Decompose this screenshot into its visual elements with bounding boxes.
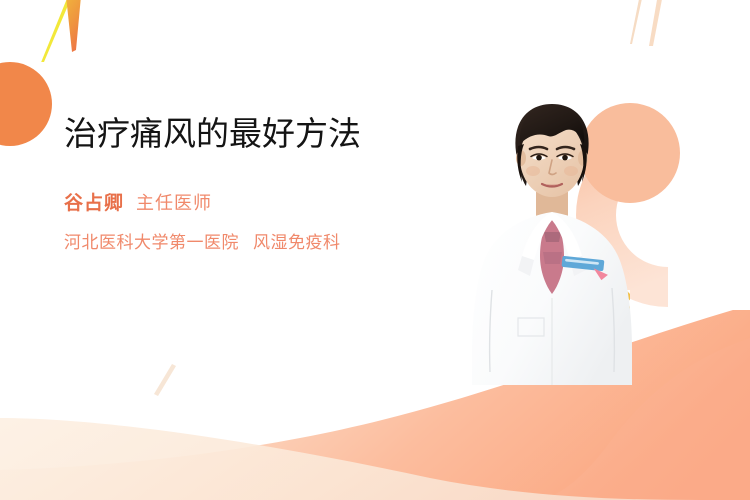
yellow-slash-icon xyxy=(38,0,74,64)
health-video-thumbnail-card: 治疗痛风的最好方法 谷占卿主任医师 河北医科大学第一医院风湿免疫科 xyxy=(0,0,750,500)
department-name: 风湿免疫科 xyxy=(253,233,341,252)
doctor-portrait xyxy=(462,100,642,385)
doctor-affiliation: 河北医科大学第一医院风湿免疫科 xyxy=(64,228,414,253)
orange-circle-decoration xyxy=(0,62,52,146)
doctor-rank: 主任医师 xyxy=(136,193,212,213)
doctor-byline: 谷占卿主任医师 xyxy=(64,188,414,215)
doctor-name: 谷占卿 xyxy=(64,193,124,214)
peach-slash-pair-icon xyxy=(630,0,676,52)
hospital-name: 河北医科大学第一医院 xyxy=(64,233,239,252)
cream-slash-icon xyxy=(150,362,180,398)
text-block: 治疗痛风的最好方法 谷占卿主任医师 河北医科大学第一医院风湿免疫科 xyxy=(64,114,414,253)
orange-slash-icon xyxy=(52,0,92,58)
page-title: 治疗痛风的最好方法 xyxy=(64,114,414,154)
